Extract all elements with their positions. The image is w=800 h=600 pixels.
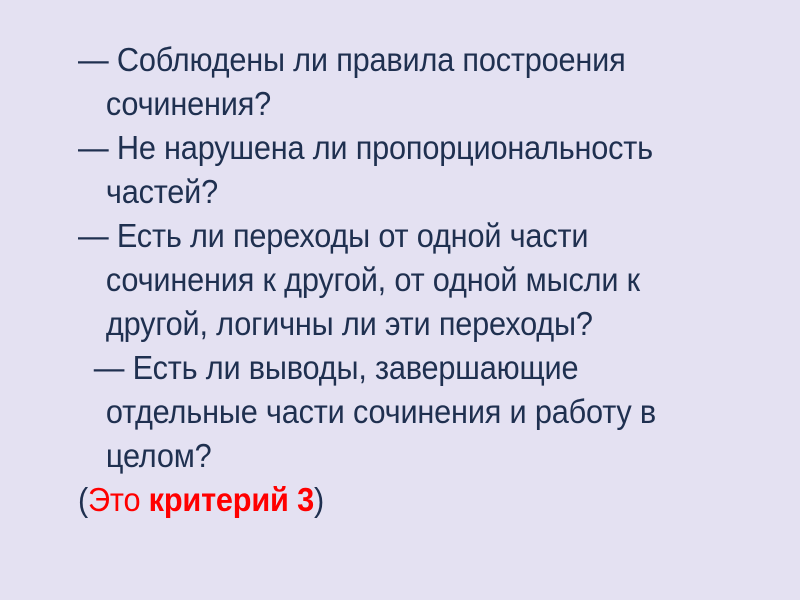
list-item-line: другой, логичны ли эти переходы? (78, 302, 729, 346)
list-item-line: сочинения к другой, от одной мысли к (78, 258, 729, 302)
note-emphasis: критерий 3 (149, 481, 314, 518)
list-item-line: — Соблюдены ли правила построения (78, 38, 729, 82)
list-item-line: частей? (78, 170, 729, 214)
list-item-line: целом? (78, 434, 729, 478)
list-item-line: — Не нарушена ли пропорциональность (78, 126, 729, 170)
list-item-line: — Есть ли выводы, завершающие (78, 346, 729, 390)
criterion-note: (Это критерий 3) (78, 478, 729, 522)
note-prefix: Это (88, 481, 149, 518)
note-open-paren: ( (78, 481, 88, 518)
question-list: — Соблюдены ли правила построения сочине… (78, 38, 778, 522)
list-item-line: — Есть ли переходы от одной части (78, 214, 729, 258)
list-item-line: отдельные части сочинения и работу в (78, 390, 729, 434)
note-close-paren: ) (314, 481, 324, 518)
slide-canvas: — Соблюдены ли правила построения сочине… (0, 0, 800, 600)
list-item-line: сочинения? (78, 82, 729, 126)
